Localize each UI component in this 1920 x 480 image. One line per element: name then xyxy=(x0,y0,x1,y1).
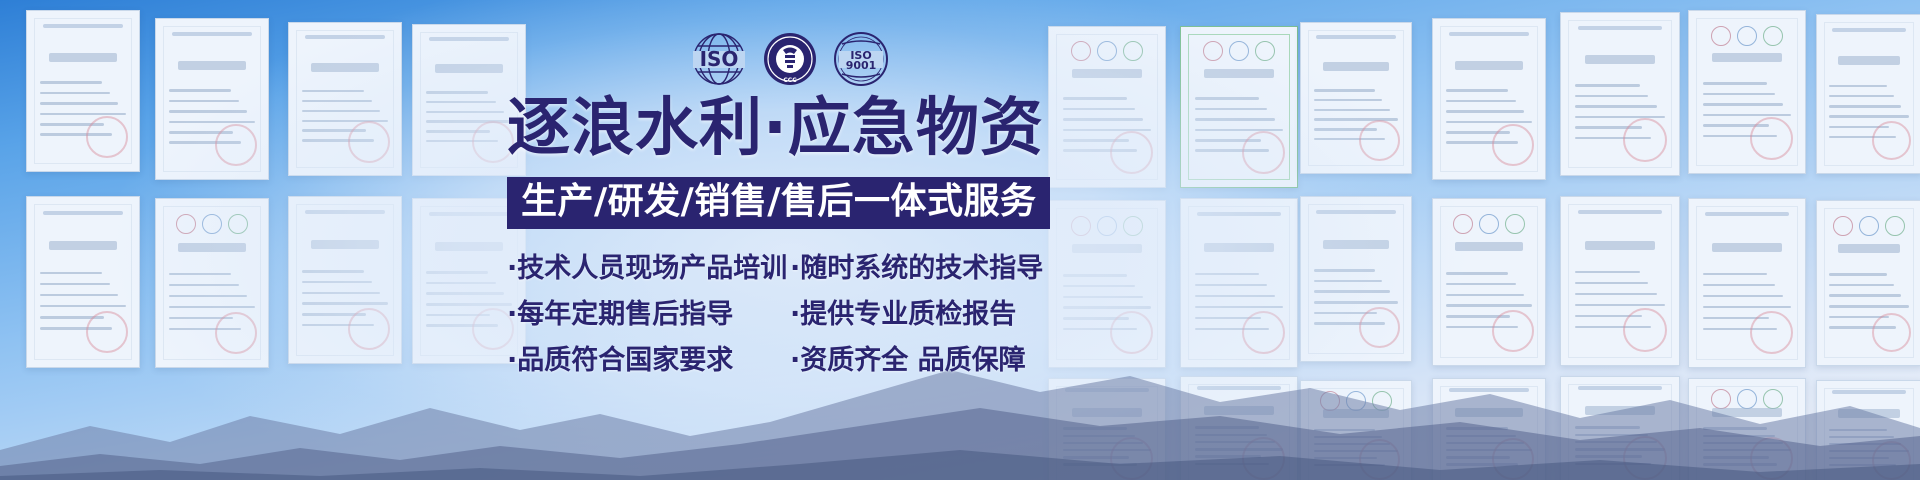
certificate-thumbnail xyxy=(26,10,140,172)
banner-subtitle-bar: 生产/研发/销售/售后一体式服务 xyxy=(507,177,1050,229)
bullet-row: ·品质符合国家要求 ·资质齐全 品质保障 xyxy=(507,347,1067,374)
banner-subtitle: 生产/研发/销售/售后一体式服务 xyxy=(521,181,1036,222)
bullet-item: ·提供专业质检报告 xyxy=(790,301,1050,328)
certificate-thumbnail xyxy=(1688,10,1806,174)
banner-title: 逐浪水利·应急物资 xyxy=(507,96,1067,159)
bullet-item: ·技术人员现场产品培训 xyxy=(507,255,790,282)
iso-9001-badge: ISO 9001 xyxy=(832,30,890,88)
ccc-badge: CCC xyxy=(761,30,819,88)
banner-content: 逐浪水利·应急物资 生产/研发/销售/售后一体式服务 ·技术人员现场产品培训 ·… xyxy=(507,96,1067,393)
bullet-item: ·品质符合国家要求 xyxy=(507,347,790,374)
ccc-badge-label: CCC xyxy=(783,77,797,84)
certification-badges: ISO CCC ISO 90 xyxy=(690,28,890,90)
certificate-thumbnail xyxy=(1816,14,1920,174)
bullet-item: ·资质齐全 品质保障 xyxy=(790,347,1050,374)
certificate-thumbnail xyxy=(288,22,402,176)
bullet-item: ·随时系统的技术指导 xyxy=(790,255,1050,282)
certificate-thumbnail xyxy=(1300,22,1412,174)
iso-badge-label: ISO xyxy=(700,47,739,71)
certificate-thumbnail xyxy=(1560,12,1680,176)
iso-badge: ISO xyxy=(690,30,748,88)
iso-9001-line2: 9001 xyxy=(846,59,877,72)
bullet-row: ·技术人员现场产品培训 ·随时系统的技术指导 xyxy=(507,255,1067,282)
certificate-thumbnail xyxy=(1432,18,1546,180)
certificate-thumbnail xyxy=(155,18,269,180)
bullet-row: ·每年定期售后指导 ·提供专业质检报告 xyxy=(507,301,1067,328)
promo-banner: ISO CCC ISO 90 xyxy=(0,0,1920,480)
certificate-thumbnail xyxy=(1180,26,1298,188)
feature-bullet-list: ·技术人员现场产品培训 ·随时系统的技术指导 ·每年定期售后指导 ·提供专业质检… xyxy=(507,255,1067,374)
bullet-item: ·每年定期售后指导 xyxy=(507,301,790,328)
